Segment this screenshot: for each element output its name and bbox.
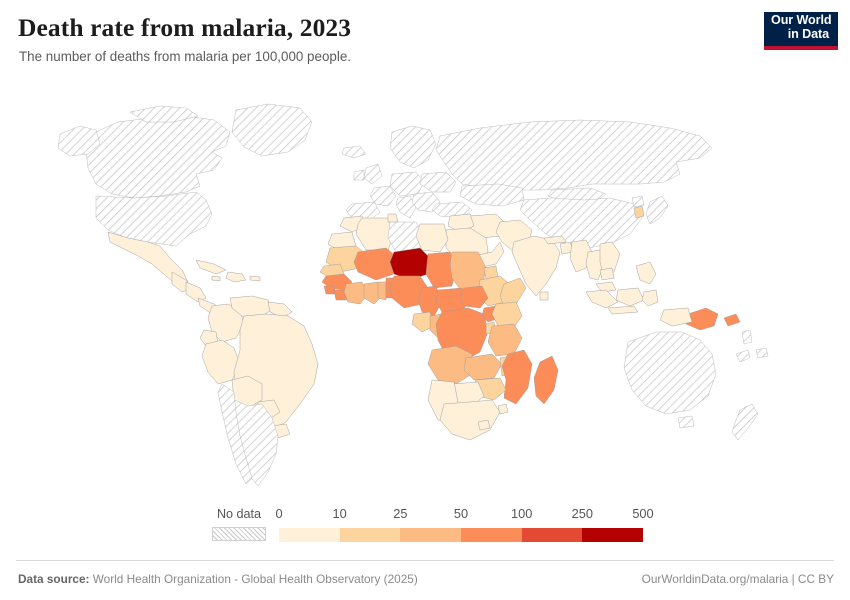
country-tunisia[interactable] [388,214,398,222]
country-philippines[interactable] [636,262,656,284]
country-lesotho[interactable] [478,420,490,430]
country-ireland[interactable] [354,170,364,180]
country-new-zealand[interactable] [732,404,758,440]
legend-bin-2[interactable] [400,528,461,542]
world-map-svg[interactable] [0,92,850,497]
legend-bin-4[interactable] [522,528,583,542]
country-cambodia[interactable] [600,268,614,280]
legend-bin-3[interactable] [461,528,522,542]
country-kazakhstan[interactable] [460,184,524,206]
country-jamaica[interactable] [212,276,220,281]
country-egypt[interactable] [416,224,448,252]
country-tanzania[interactable] [488,324,522,356]
country-eswatini[interactable] [498,404,508,414]
owid-logo-line-1: Our World [771,14,831,28]
footer-divider [16,560,834,561]
legend-nodata-group[interactable]: No data [205,508,273,541]
footer-source-text: World Health Organization - Global Healt… [93,572,418,586]
legend-bin-1[interactable] [340,528,401,542]
map-legend: No data 0102550100250500 [0,508,850,550]
country-norway-sweden-finland[interactable] [390,126,436,168]
country-hispaniola[interactable] [226,272,246,282]
country-indonesia-sumatra[interactable] [586,290,618,308]
legend-bin-0[interactable] [279,528,340,542]
country-south-korea[interactable] [634,206,644,218]
country-iceland[interactable] [342,146,366,158]
legend-color-bar[interactable] [279,528,643,542]
country-togo[interactable] [378,282,386,300]
legend-tick-100: 100 [511,508,532,521]
country-south-africa[interactable] [440,400,500,440]
country-ukraine-belarus[interactable] [420,172,456,192]
country-north-korea[interactable] [632,196,644,207]
legend-tick-500: 500 [632,508,653,521]
country-germany-poland[interactable] [390,172,424,196]
country-united-kingdom[interactable] [364,164,382,184]
country-greenland[interactable] [232,104,312,156]
country-indonesia-java[interactable] [608,306,638,314]
country-zambia[interactable] [464,354,502,380]
country-russia[interactable] [436,120,712,190]
country-canada[interactable] [86,116,230,198]
country-peru[interactable] [202,340,240,384]
country-sri-lanka[interactable] [540,292,548,300]
country-honduras-nicaragua[interactable] [186,282,206,302]
legend-bins-group[interactable]: 0102550100250500 [279,508,643,542]
country-cuba[interactable] [196,260,226,274]
legend-tick-0: 0 [275,508,282,521]
country-australia[interactable] [624,332,716,414]
legend-nodata-swatch[interactable] [212,527,266,541]
legend-tick-250: 250 [572,508,593,521]
country-solomon-islands[interactable] [724,314,740,326]
legend-tick-25: 25 [393,508,407,521]
footer-attribution[interactable]: OurWorldinData.org/malaria | CC BY [642,572,834,586]
chart-footer: Data source: World Health Organization -… [0,566,850,592]
legend-bin-5[interactable] [582,528,643,542]
world-choropleth-map[interactable] [0,92,850,497]
footer-source: Data source: World Health Organization -… [18,572,418,586]
chart-header: Death rate from malaria, 2023 The number… [0,0,850,88]
owid-logo[interactable]: Our World in Data [764,12,838,50]
country-fiji[interactable] [756,348,768,358]
page-subtitle: The number of deaths from malaria per 10… [19,49,834,66]
legend-nodata-label: No data [205,508,273,521]
page-title: Death rate from malaria, 2023 [18,14,834,43]
country-new-caledonia[interactable] [736,350,750,362]
country-nepal-bhutan[interactable] [544,236,566,244]
country-vanuatu[interactable] [742,330,752,344]
owid-logo-line-2: in Data [788,28,831,42]
country-madagascar[interactable] [534,356,558,404]
map-countries [58,104,768,486]
country-japan[interactable] [646,196,668,224]
country-niger[interactable] [390,248,430,280]
country-indonesia-borneo[interactable] [616,288,644,306]
country-indonesia-sulawesi[interactable] [642,290,658,306]
country-mozambique[interactable] [502,350,532,404]
country-tasmania[interactable] [678,416,694,428]
country-puerto-rico[interactable] [250,276,260,281]
footer-source-label: Data source: [18,572,89,586]
legend-tick-labels: 0102550100250500 [279,508,643,524]
legend-tick-50: 50 [454,508,468,521]
legend-tick-10: 10 [333,508,347,521]
country-south-sudan[interactable] [460,286,488,308]
